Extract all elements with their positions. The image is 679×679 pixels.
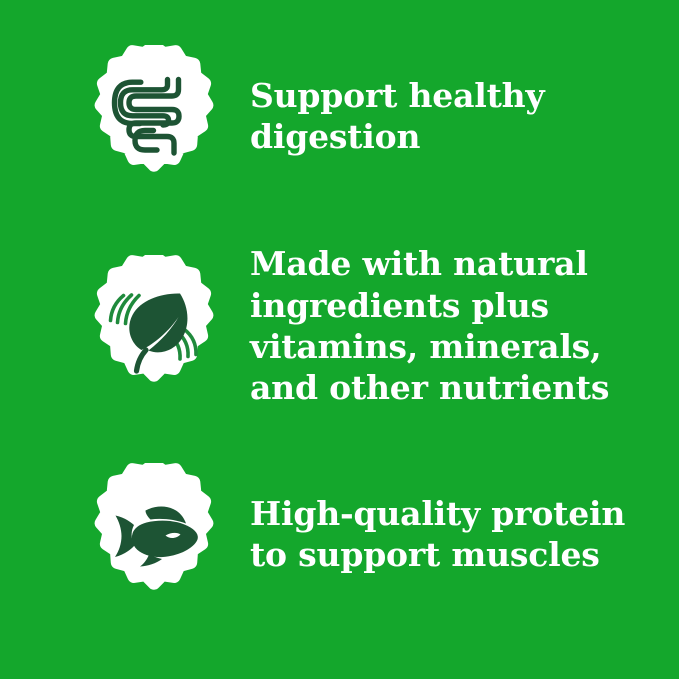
fish-icon: [83, 463, 225, 605]
fish-badge: [83, 463, 225, 605]
feature-text: Made with natural ingredients plus vitam…: [250, 243, 679, 409]
intestine-badge: [83, 45, 225, 187]
feature-list-panel: Support healthy digestion Made with natu…: [0, 0, 679, 679]
feature-row: High-quality protein to support muscles: [0, 463, 679, 605]
leaf-icon: [83, 255, 225, 397]
intestine-icon: [83, 45, 225, 187]
feature-row: Made with natural ingredients plus vitam…: [0, 255, 679, 397]
feature-text: High-quality protein to support muscles: [250, 493, 679, 576]
feature-row: Support healthy digestion: [0, 45, 679, 187]
feature-text: Support healthy digestion: [250, 75, 679, 158]
leaf-badge: [83, 255, 225, 397]
